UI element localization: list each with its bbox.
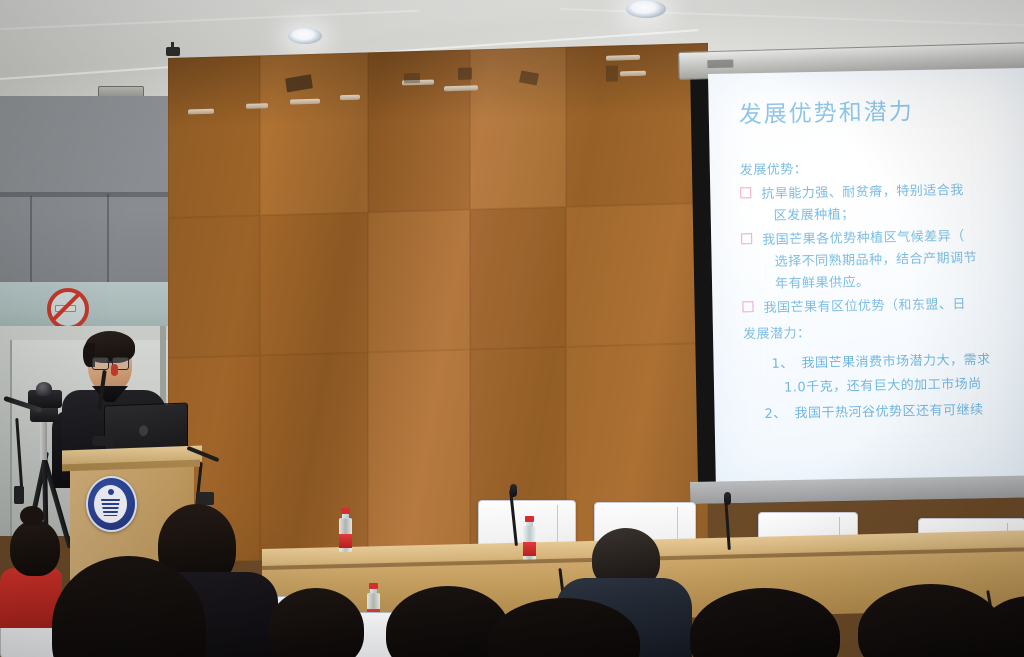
presentation-slide: 发展优势和潜力 发展优势： 抗旱能力强、耐贫瘠，特别适合我 区发展种植； 我国芒… — [708, 68, 1024, 494]
slide-bullet-text: 我国芒果有区位优势（和东盟、日 — [763, 293, 966, 316]
wood-panel — [368, 210, 470, 353]
slide-section-heading-1: 发展优势： — [740, 158, 808, 178]
wood-panel — [368, 350, 470, 558]
table-microphone-2-head — [724, 492, 731, 505]
housing-brand-logo — [707, 59, 733, 68]
slide-title: 发展优势和潜力 — [738, 92, 914, 129]
water-bottle-1 — [338, 508, 354, 554]
wall-fitting — [246, 103, 268, 109]
gray-acoustic-wall — [0, 96, 180, 288]
water-bottle-2 — [522, 516, 538, 562]
wall-teal-band — [0, 282, 178, 330]
podium-microphone-head — [111, 364, 118, 376]
bottle-label — [339, 534, 352, 548]
slide-bullet-2-continued: 选择不同熟期品种，结合产期调节 — [774, 247, 977, 270]
wood-panel — [566, 203, 708, 347]
bottle-label — [523, 542, 536, 556]
slide-bullet-1: 抗旱能力强、耐贫瘠，特别适合我 — [740, 179, 964, 202]
slide-bullet-text: 抗旱能力强、耐贫瘠，特别适合我 — [761, 179, 964, 202]
wood-panel — [470, 207, 566, 350]
slide-bullet-2: 我国芒果各优势种植区气候差异（ — [741, 225, 965, 248]
tripod-center-column — [40, 418, 47, 460]
wall-fitting — [620, 71, 646, 77]
camera-lens-icon — [36, 382, 52, 396]
wall-hook — [458, 68, 472, 80]
slide-bullet-text: 我国芒果各优势种植区气候差异（ — [762, 225, 965, 248]
ceiling-downlight-icon — [288, 28, 322, 44]
slide-bullet-3: 我国芒果有区位优势（和东盟、日 — [742, 293, 966, 316]
checkbox-bullet-icon — [742, 301, 753, 312]
projection-screen: 发展优势和潜力 发展优势： 抗旱能力强、耐贫瘠，特别适合我 区发展种植； 我国芒… — [708, 68, 1024, 494]
slide-numbered-marker-1: 1、 — [771, 352, 794, 371]
wood-panel — [470, 47, 566, 210]
slide-numbered-text-2: 我国干热河谷优势区还有可继续 — [794, 399, 983, 422]
wood-panel — [168, 215, 260, 358]
university-emblem — [86, 476, 137, 532]
wood-panel — [260, 52, 368, 215]
slide-numbered-marker-2: 2、 — [764, 403, 787, 422]
wood-panel-wall — [168, 43, 708, 563]
slide-numbered-text-1: 我国芒果消费市场潜力大，需求 — [801, 349, 990, 372]
emblem-top-mark — [108, 489, 114, 495]
cable-connector — [14, 486, 24, 504]
wall-fitting — [340, 95, 360, 101]
slide-section-heading-2: 发展潜力： — [743, 322, 811, 342]
checkbox-bullet-icon — [740, 187, 751, 198]
attendee-head — [10, 520, 60, 576]
laptop-logo — [139, 425, 148, 436]
conference-hall-photo: 发展优势和潜力 发展优势： 抗旱能力强、耐贫瘠，特别适合我 区发展种植； 我国芒… — [0, 0, 1024, 657]
no-smoking-icon — [47, 288, 89, 330]
wall-fitting — [188, 109, 214, 115]
checkbox-bullet-icon — [741, 233, 752, 244]
ceiling-downlight-icon — [626, 0, 666, 18]
microphone-base — [92, 436, 114, 446]
wall-fitting — [606, 55, 640, 61]
wall-fitting — [290, 99, 320, 105]
slide-bullet-1-continued: 区发展种植； — [774, 203, 855, 224]
wall-fitting — [444, 85, 478, 91]
ceiling-sprinkler-icon — [166, 47, 180, 56]
slide-numbered-text-1-continued: 1.0千克，还有巨大的加工市场尚 — [784, 373, 982, 396]
wall-hook — [404, 73, 420, 83]
wall-top-edge — [0, 192, 180, 197]
wood-panel — [168, 55, 260, 218]
lens-left — [92, 357, 109, 370]
emblem-inner-disc — [94, 485, 127, 523]
attendee-hair-bun — [20, 506, 44, 526]
wood-panel — [260, 212, 368, 355]
table-microphone-1-head — [510, 484, 517, 497]
wall-hook — [606, 65, 618, 81]
emblem-book-shield — [101, 499, 120, 516]
slide-bullet-2-continued: 年有鲜果供应。 — [775, 271, 870, 292]
